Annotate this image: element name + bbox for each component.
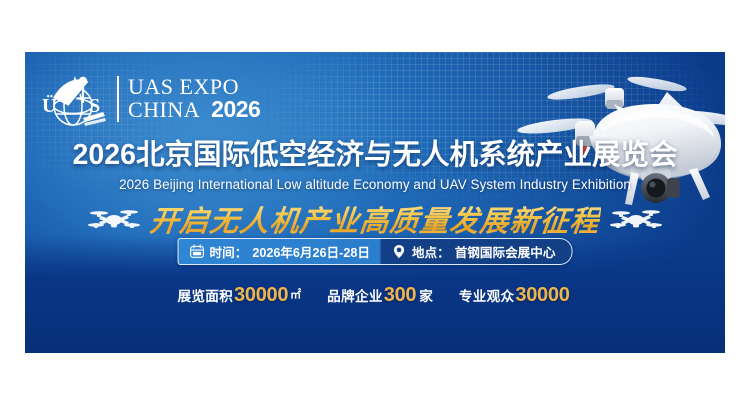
event-date-label: 时间： xyxy=(210,242,248,261)
calendar-icon xyxy=(190,244,205,259)
stat-label: 专业观众 xyxy=(459,285,515,305)
logo-year: 2026 xyxy=(211,98,260,122)
slogan-row: 开启无人机产业高质量发展新征程 xyxy=(25,198,725,240)
stat-label: 展览面积 xyxy=(177,285,233,305)
event-location-value: 首钢国际会展中心 xyxy=(455,242,556,261)
stat-value: 30000 xyxy=(233,284,289,307)
headline-block: 2026北京国际低空经济与无人机系统产业展览会 2026 Beijing Int… xyxy=(25,140,725,192)
stat-item: 展览面积 30000 ㎡ xyxy=(177,284,301,307)
headline-english: 2026 Beijing International Low altitude … xyxy=(25,177,725,192)
slogan-text: 开启无人机产业高质量发展新征程 xyxy=(148,198,602,240)
headline-chinese: 2026北京国际低空经济与无人机系统产业展览会 xyxy=(25,140,725,172)
stat-item: 专业观众 30000 xyxy=(459,284,573,307)
stat-unit: 家 xyxy=(419,285,433,305)
event-info-bar: 时间： 2026年6月26日-28日 地点： 首钢国际会展中心 xyxy=(178,238,573,265)
drone-icon xyxy=(610,206,662,232)
event-location-segment: 地点： 首钢国际会展中心 xyxy=(381,239,572,264)
statistics-row: 展览面积 30000 ㎡ 品牌企业 300 家 专业观众 30000 xyxy=(25,284,725,307)
exhibition-banner: Ü S UAS EXPO CHINA 2026 2026北京国际低空经济与无人机… xyxy=(25,52,725,353)
stat-label: 品牌企业 xyxy=(327,285,383,305)
logo-wordmark: UAS EXPO CHINA 2026 xyxy=(117,76,260,123)
svg-text:Ü: Ü xyxy=(42,94,56,117)
logo-line-1: UAS EXPO xyxy=(128,76,260,99)
event-date-value: 2026年6月26日-28日 xyxy=(252,242,370,261)
stat-item: 品牌企业 300 家 xyxy=(327,284,433,307)
stat-value: 300 xyxy=(383,284,417,307)
event-location-label: 地点： xyxy=(412,242,450,261)
logo-text-uas-expo: UAS EXPO xyxy=(128,76,239,99)
stat-unit: ㎡ xyxy=(290,286,301,302)
uas-expo-logo: Ü S UAS EXPO CHINA 2026 xyxy=(39,68,260,130)
logo-line-2: CHINA 2026 xyxy=(128,98,260,122)
location-pin-icon xyxy=(392,244,407,259)
stat-value: 30000 xyxy=(514,284,570,307)
event-date-segment: 时间： 2026年6月26日-28日 xyxy=(179,239,381,264)
drone-icon xyxy=(88,206,140,232)
uas-globe-satellite-logo-icon: Ü S xyxy=(39,68,111,130)
logo-text-china: CHINA xyxy=(128,99,200,122)
